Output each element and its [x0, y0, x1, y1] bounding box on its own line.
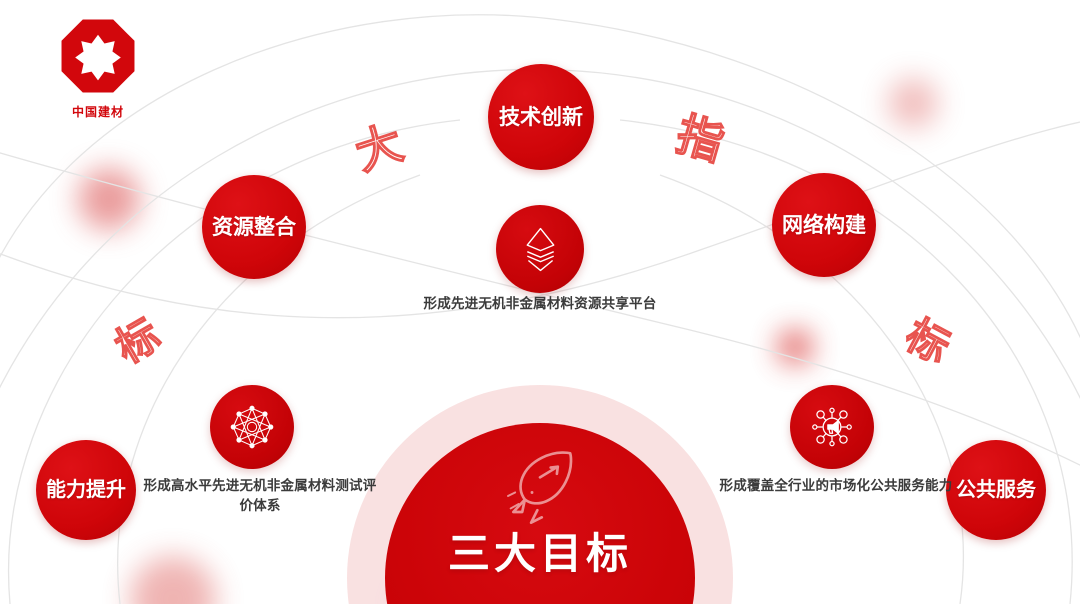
goal-icon-circle-resource-sharing-platform[interactable] — [496, 205, 584, 293]
brand-logo: 中国建材 — [50, 18, 146, 120]
keyword-bubble-public-service[interactable]: 公共服务 — [946, 440, 1046, 540]
infographic-canvas: 中国建材 三大目标 大指标标 技术创新资源整合网络构建能力提升公共服务 形成高水… — [0, 0, 1080, 604]
keyword-bubble-capability-upgrade[interactable]: 能力提升 — [36, 440, 136, 540]
polygon-network-icon — [226, 401, 278, 453]
keyword-bubble-label: 能力提升 — [46, 480, 126, 500]
keyword-bubble-technology-innovation[interactable]: 技术创新 — [488, 64, 594, 170]
goal-caption-testing-evaluation-system: 形成高水平先进无机非金属材料测试评价体系 — [142, 476, 378, 517]
keyword-bubble-resource-integration[interactable]: 资源整合 — [202, 175, 306, 279]
keyword-bubble-label: 网络构建 — [782, 215, 866, 236]
keyword-bubble-label: 资源整合 — [212, 217, 296, 238]
rocket-icon — [495, 448, 585, 528]
megaphone-network-icon — [806, 401, 858, 453]
goal-icon-circle-public-service-capability[interactable] — [790, 385, 874, 469]
layered-stack-icon — [513, 222, 568, 277]
octagon-star-logo-icon — [60, 18, 136, 94]
keyword-bubble-label: 技术创新 — [499, 107, 583, 128]
brand-name: 中国建材 — [50, 103, 146, 120]
goal-caption-resource-sharing-platform: 形成先进无机非金属材料资源共享平台 — [420, 294, 660, 314]
keyword-bubble-label: 公共服务 — [956, 480, 1036, 500]
goal-icon-circle-testing-evaluation-system[interactable] — [210, 385, 294, 469]
goal-caption-public-service-capability: 形成覆盖全行业的市场化公共服务能力 — [718, 476, 954, 496]
center-title: 三大目标 — [385, 520, 695, 581]
keyword-bubble-network-construction[interactable]: 网络构建 — [772, 173, 876, 277]
